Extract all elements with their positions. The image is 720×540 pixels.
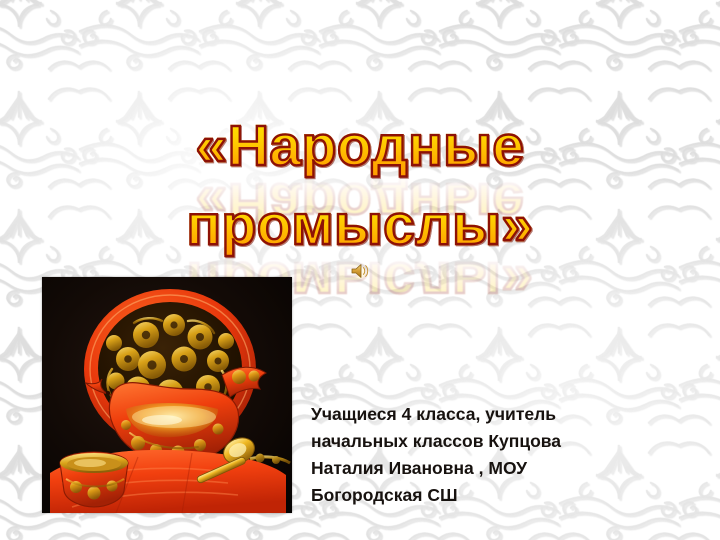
byline-line-4: Богородская СШ: [311, 482, 701, 509]
slide-title: «Народные «Народные промыслы» промыслы»: [0, 116, 720, 261]
khokhloma-photo: [42, 277, 292, 513]
title-line-1: «Народные: [0, 116, 720, 176]
title-slide: «Народные «Народные промыслы» промыслы»: [0, 0, 720, 540]
byline-line-2: начальных классов Купцова: [311, 428, 701, 455]
byline-text: Учащиеся 4 класса, учитель начальных кла…: [311, 401, 701, 509]
title-line-2: промыслы»: [0, 195, 720, 255]
title-line-1-wrapper: «Народные «Народные: [0, 116, 720, 182]
title-line-2-wrapper: промыслы» промыслы»: [0, 195, 720, 261]
byline-line-1: Учащиеся 4 класса, учитель: [311, 401, 701, 428]
byline-line-3: Наталия Ивановна , МОУ: [311, 455, 701, 482]
speaker-icon[interactable]: [350, 261, 372, 281]
